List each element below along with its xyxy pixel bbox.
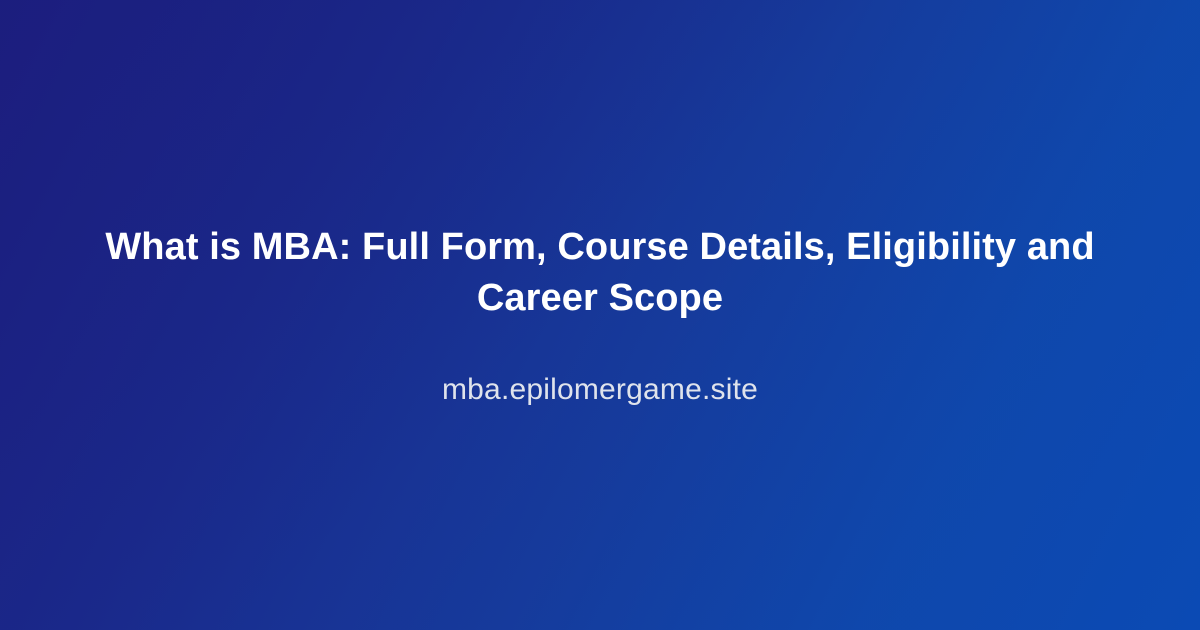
site-domain-label: mba.epilomergame.site: [442, 325, 758, 409]
page-title: What is MBA: Full Form, Course Details, …: [100, 222, 1100, 325]
og-preview-card: What is MBA: Full Form, Course Details, …: [0, 0, 1200, 630]
card-content: What is MBA: Full Form, Course Details, …: [100, 222, 1100, 409]
